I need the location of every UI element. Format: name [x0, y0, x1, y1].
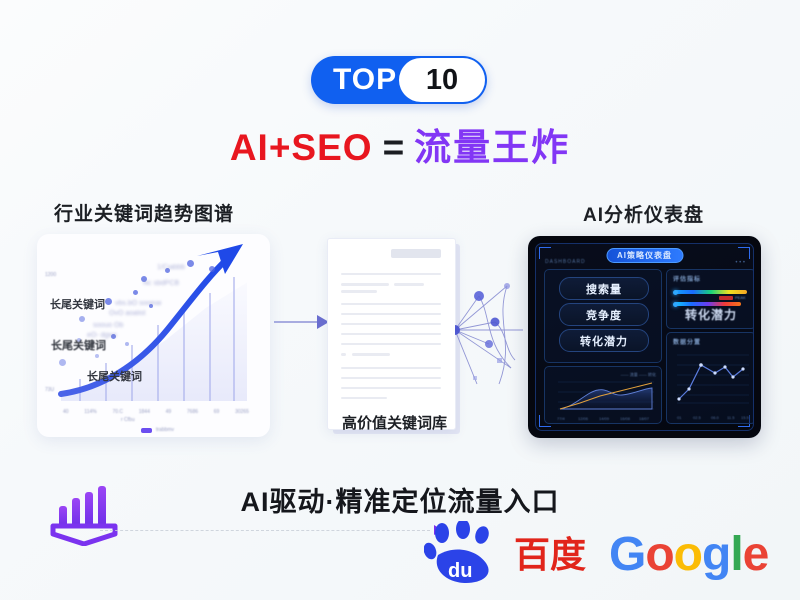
baidu-du-text: du — [448, 560, 472, 582]
area-chart-panel: —— 流量 —— 转化 — [544, 366, 662, 424]
trend-x-tick: 49 — [166, 409, 172, 415]
trend-legend: trabbmv — [141, 427, 174, 433]
metric-pill-label: 转化潜力 — [580, 333, 628, 349]
keyword-label: 长尾关键词 — [87, 368, 142, 384]
baidu-wordmark: 百度 — [514, 537, 586, 573]
network-connector-graph — [455, 272, 525, 390]
metric-pill-competition[interactable]: 竞争度 — [559, 303, 649, 326]
metric-pill-search-volume[interactable]: 搜索量 — [559, 277, 649, 300]
left-section-caption: 行业关键词趋势图谱 — [54, 199, 234, 226]
google-letter: g — [702, 528, 730, 581]
google-letter: l — [730, 528, 742, 581]
trend-x-axis: 40 114% 70.C 1844 49 7686 69 30265 — [63, 409, 249, 415]
gauge-panel: 评估指标 PEAK 转化潜力 — [666, 269, 754, 329]
trend-x-tick: 114% — [84, 409, 96, 415]
title-ai-seo: AI+SEO — [230, 127, 373, 168]
top-rank-badge: TOP 10 — [311, 56, 487, 104]
bar-chart-pedestal-icon — [47, 484, 121, 546]
area-x-tick: 12/06 — [578, 416, 588, 421]
keyword-document-card: 高价值关键词库 — [327, 238, 460, 434]
gauge-bar-primary — [675, 290, 747, 294]
keyword-label: 长尾关键词 — [50, 296, 105, 312]
flow-arrow-icon — [274, 312, 330, 332]
top-badge-number: 10 — [426, 66, 458, 95]
title-traffic: 流量王炸 — [414, 127, 570, 168]
gauge-panel-title: 评估指标 — [673, 274, 701, 283]
corner-bracket-icon — [539, 247, 551, 259]
metric-pills-panel: 搜索量 竞争度 转化潜力 — [544, 269, 662, 363]
gauge-overlay-label: 转化潜力 — [667, 306, 754, 323]
area-x-tick: 77/4 — [557, 416, 565, 421]
metric-pill-label: 搜索量 — [586, 281, 622, 297]
area-x-tick: 16/08 — [620, 416, 630, 421]
trend-x-tick: 30265 — [235, 409, 249, 415]
line-chart-panel: 数据分置 — [666, 332, 754, 424]
middle-section-caption: 高价值关键词库 — [328, 412, 461, 433]
google-letter: G — [609, 528, 645, 581]
trend-noise-label: 1/Ciabbb — [157, 264, 185, 271]
google-letter: e — [743, 528, 769, 581]
line-x-tick: 02.5 — [693, 415, 701, 420]
dashboard-menu-icon[interactable]: • • • — [735, 260, 745, 266]
corner-bracket-icon — [738, 247, 750, 259]
trend-x-tick: 70.C — [112, 409, 123, 415]
legend-swatch — [141, 428, 152, 433]
dashboard-title: AI策略仪表盘 — [606, 248, 683, 263]
line-x-tick: 06.0 — [711, 415, 719, 420]
trend-noise-label: vbs.bO sooeiai — [115, 300, 161, 307]
search-engine-logos: du 百度 Google — [424, 521, 754, 587]
trend-noise-label: Nc sbdPCB — [143, 280, 179, 287]
gauge-tag-label: PEAK — [735, 295, 746, 300]
dashboard-screen: AI策略仪表盘 DASHBOARD • • • 搜索量 竞争度 转化潜力 评估指… — [535, 243, 754, 431]
gauge-tag-icon — [719, 296, 733, 300]
line-x-tick: 15.5 — [741, 415, 749, 420]
area-chart-svg — [550, 376, 656, 412]
top-badge-number-pill: 10 — [399, 58, 485, 102]
top-badge-label: TOP — [333, 65, 397, 95]
slide-canvas: TOP 10 AI+SEO=流量王炸 行业关键词趋势图谱 AI分析仪表盘 — [0, 0, 800, 600]
ai-dashboard-card: AI策略仪表盘 DASHBOARD • • • 搜索量 竞争度 转化潜力 评估指… — [528, 236, 761, 438]
trend-chart-card: 1/Ciabbb Nc sbdPCB vbs.bO sooeiai OvO ao… — [37, 234, 270, 437]
line-x-tick: 11.5 — [727, 415, 735, 420]
google-letter: o — [645, 528, 673, 581]
line-x-tick: 01 — [677, 415, 681, 420]
trend-x-tick: 7686 — [187, 409, 198, 415]
title-equals: = — [383, 127, 405, 168]
google-letter: o — [674, 528, 702, 581]
right-section-caption: AI分析仪表盘 — [583, 200, 704, 227]
area-x-tick: 18/07 — [639, 416, 649, 421]
trend-x-tick: 1844 — [139, 409, 150, 415]
trend-x-axis-label: r Cfbu — [121, 417, 135, 423]
trend-x-tick: 69 — [214, 409, 220, 415]
line-panel-title: 数据分置 — [673, 337, 701, 346]
trend-chart-plot: 1/Ciabbb Nc sbdPCB vbs.bO sooeiai OvO ao… — [37, 234, 270, 437]
google-wordmark: Google — [609, 531, 768, 579]
line-chart-svg — [671, 347, 751, 409]
trend-noise-label: soouo Ob — [93, 322, 123, 329]
keyword-label: 长尾关键词 — [51, 337, 106, 353]
trend-x-tick: 40 — [63, 409, 69, 415]
document-page — [327, 238, 456, 430]
trend-y-tick: 1200 — [45, 272, 56, 278]
baidu-paw-icon: du — [424, 521, 516, 587]
flow-dashed-line — [100, 530, 430, 532]
trend-noise-label: OvO aoalist — [109, 310, 146, 317]
page-title: AI+SEO=流量王炸 — [0, 128, 800, 169]
gauge-marker-icon — [673, 290, 678, 295]
metric-pill-label: 竞争度 — [586, 307, 622, 323]
trend-y-tick: 73U — [45, 387, 54, 393]
trend-arrow-icon — [47, 238, 262, 418]
dashboard-subtitle: DASHBOARD — [545, 259, 586, 265]
legend-label: trabbmv — [156, 427, 174, 433]
area-x-tick: 14/09 — [599, 416, 609, 421]
metric-pill-conversion[interactable]: 转化潜力 — [559, 329, 649, 352]
